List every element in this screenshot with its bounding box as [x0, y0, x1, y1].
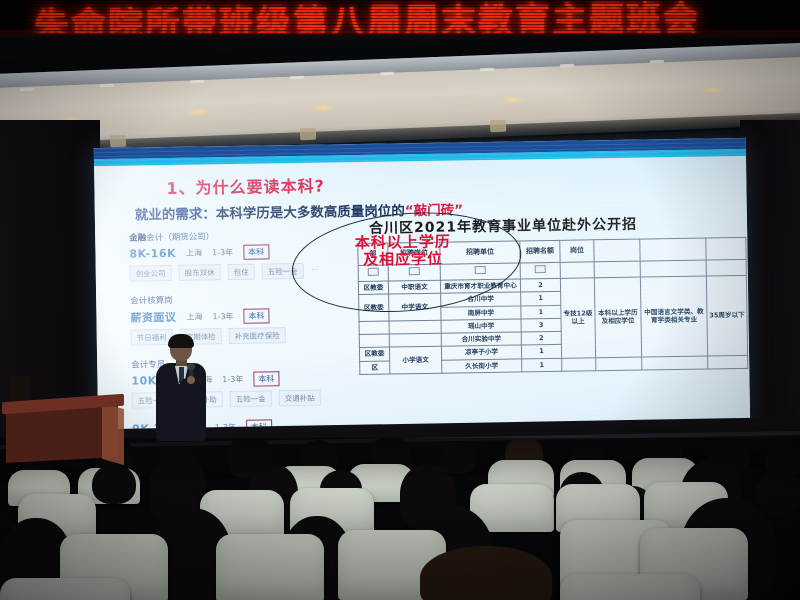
job-salary: 8K-16K: [129, 247, 176, 261]
cell-quota: 1: [521, 345, 561, 359]
job-city: 上海: [186, 247, 202, 258]
wall-base-block: [110, 135, 126, 148]
job-city: 上海: [186, 311, 202, 322]
job-tag: 补充医疗保险: [229, 327, 286, 344]
podium-side: [102, 403, 124, 465]
wall-fitting: [190, 80, 204, 84]
wall-fitting: [100, 84, 114, 88]
cell-quota: 3: [521, 318, 561, 332]
cell-level: [562, 357, 596, 371]
cell-unit: 瑶山中学: [441, 319, 521, 333]
presenter-hair: [168, 334, 194, 348]
slide-subtitle-label: 就业的需求：: [135, 206, 216, 223]
job-degree-badge: 本科: [253, 371, 279, 386]
callout-line-2: 及相应学位: [363, 251, 443, 270]
job-tag: 交通补贴: [279, 390, 321, 407]
wall-fitting: [560, 64, 574, 68]
table-header-cell: 岗位: [560, 240, 594, 263]
led-glow: [0, 30, 800, 40]
led-banner: 朱命院所带班级第八周周末教育主题班会: [0, 0, 800, 34]
cell-quota: 1: [521, 292, 561, 306]
wall-fitting: [380, 72, 394, 76]
job-salary: 薪资面议: [130, 309, 176, 326]
cell-post: [389, 333, 441, 347]
job-tag: 包住: [228, 264, 255, 280]
job-degree-badge: 本科: [243, 308, 269, 323]
audience-head: [756, 472, 800, 514]
job-experience: 1-3年: [212, 247, 233, 258]
audience-head: [92, 464, 136, 504]
wall-base-block: [300, 128, 316, 141]
cell-dept: 区: [360, 361, 390, 375]
cell-level: 专技12级以上: [560, 278, 595, 358]
cell-degree: 本科以上学历及相应学位: [594, 277, 641, 357]
cell-unit: 凉亭子小学: [441, 345, 521, 359]
callout-highlight: 本科以上学历 及相应学位: [310, 224, 496, 279]
job-degree-badge: 本科: [243, 244, 269, 259]
wall-fitting: [20, 88, 34, 92]
table-header-cell: [640, 238, 706, 261]
job-meta-row: 薪资面议 上海 1-3年 本科: [130, 306, 355, 326]
wall-fitting: [650, 60, 664, 64]
table-header-cell: [594, 239, 640, 262]
filter-dropdown[interactable]: [560, 262, 594, 279]
filter-dropdown[interactable]: [594, 261, 640, 278]
table-header-cell: 招聘名额: [520, 240, 560, 263]
cell-dept: [359, 334, 389, 348]
cell-major: 中国语言文学类、教育学类相关专业: [640, 276, 707, 356]
presenter: [153, 336, 209, 440]
microphone-head-icon: [187, 363, 195, 370]
lecture-hall-photo: 朱命院所带班级第八周周末教育主题班会 1、为什么要读本科? 就业的需求：本科学历…: [0, 0, 800, 600]
job-experience: 1-3年: [212, 310, 233, 321]
cell-quota: 2: [521, 331, 561, 345]
wall-fitting: [480, 68, 494, 72]
podium-equipment: [10, 376, 30, 402]
cell-quota: 1: [521, 305, 561, 319]
cell-unit: 合川实验中学: [441, 332, 521, 346]
cell-major: [642, 356, 708, 370]
cell-age: 35周岁以下: [706, 276, 747, 356]
seat: [216, 534, 324, 600]
cell-unit: 南屏中学: [441, 306, 521, 320]
cell-post: 小学语文: [389, 347, 441, 374]
led-scanlines: [0, 0, 800, 34]
cell-age: [708, 355, 748, 369]
seat: [560, 574, 700, 600]
cell-quota: 2: [520, 279, 560, 293]
wall-fitting: [290, 76, 304, 80]
cell-degree: [596, 357, 642, 371]
audience-head: [420, 546, 552, 600]
seat: [0, 578, 130, 600]
job-tag: 股东双休: [179, 264, 221, 281]
cell-unit: 久长街小学: [442, 359, 522, 373]
filter-dropdown[interactable]: [640, 260, 706, 277]
cell-dept: [359, 321, 389, 335]
job-experience: 1-3年: [222, 374, 243, 385]
cell-post: [389, 320, 441, 334]
wall-base-block: [490, 120, 506, 133]
filter-dropdown[interactable]: [706, 259, 746, 276]
filter-dropdown[interactable]: [520, 262, 560, 279]
table-header-cell: [706, 237, 746, 260]
presenter-hand: [187, 376, 195, 384]
podium: [2, 398, 124, 460]
job-title-strong: 金融: [129, 233, 146, 243]
job-title-rest: 会计（期货公司）: [146, 232, 214, 243]
audience-head: [765, 444, 800, 476]
job-tag: 五险一金: [230, 390, 272, 407]
slide-title: 1、为什么要读本科?: [166, 173, 325, 199]
job-tag: 创业公司: [130, 265, 172, 282]
cell-quota: 1: [522, 358, 562, 372]
chevron-down-icon[interactable]: [535, 265, 546, 273]
cell-dept: 区教委: [359, 347, 389, 361]
